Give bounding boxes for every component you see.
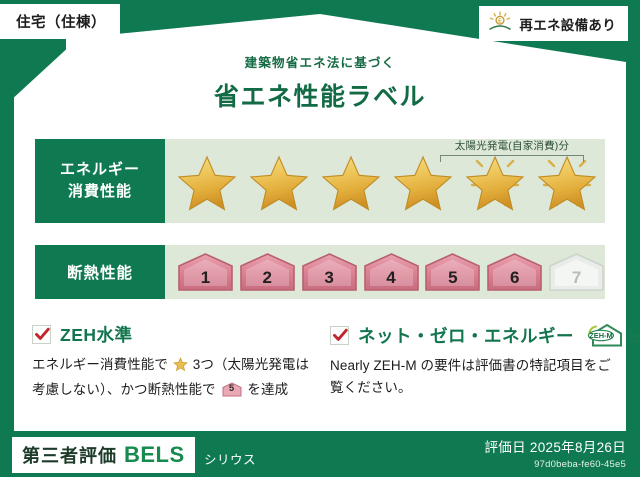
energy-performance-label: 住宅（住棟） E 再エネ設備あり 建築物省エネ法に基づく 省エネ性能ラベル (0, 0, 640, 477)
grade-scale: 1 2 (165, 245, 605, 299)
grade-badge: 5 (424, 252, 481, 292)
energy-performance-label-cell: エネルギー 消費性能 (35, 139, 165, 223)
insulation-grades-area: 1 2 (165, 245, 605, 299)
bels-badge: 第三者評価 BELS (12, 437, 195, 473)
star-icon (245, 149, 313, 213)
zeh-heading: ZEH水準 (32, 322, 317, 347)
third-party-label: 第三者評価 (22, 442, 117, 468)
svg-text:E: E (499, 19, 503, 25)
grade-badge: 7 (548, 252, 605, 292)
inline-grade-badge: 5 (222, 382, 242, 397)
star-icon (173, 149, 241, 213)
nze-heading: ネット・ゼロ・エネルギー ZEH-M Nearly ZEH-M (330, 322, 620, 348)
grade-value: 6 (510, 268, 519, 292)
zeh-m-sub-line1: Nearly (629, 333, 640, 338)
grade-value: 2 (263, 268, 272, 292)
grade-badge: 3 (301, 252, 358, 292)
star-icon (317, 149, 385, 213)
house-type-tag: 住宅（住棟） (0, 4, 120, 39)
footer-bar: 第三者評価 BELS シリウス 評価日 2025年8月26日 97d0beba-… (0, 431, 640, 477)
nze-title: ネット・ゼロ・エネルギー (358, 323, 574, 348)
solar-annotation-bracket (440, 155, 584, 162)
grade-value: 1 (201, 268, 210, 292)
zeh-m-sub-line2: ZEH-M (629, 339, 640, 344)
zeh-text-part1: エネルギー消費性能で (32, 357, 168, 372)
grade-badge: 2 (239, 252, 296, 292)
grade-value: 5 (448, 268, 457, 292)
grade-badge: 4 (363, 252, 420, 292)
star-icon (173, 357, 188, 379)
inline-grade-value: 5 (222, 381, 242, 396)
title-block: 建築物省エネ法に基づく 省エネ性能ラベル (0, 52, 640, 113)
insulation-performance-row: 断熱性能 1 (35, 245, 605, 299)
zeh-standard-section: ZEH水準 エネルギー消費性能で 3つ（太陽光発電は考慮しない）、かつ断熱性能で… (32, 322, 317, 401)
renewable-badge-label: 再エネ設備あり (519, 14, 616, 34)
zeh-checkbox[interactable] (32, 325, 51, 344)
grade-badge: 6 (486, 252, 543, 292)
evaluation-id: 97d0beba-fe60-45e5 (484, 459, 626, 470)
nze-checkbox[interactable] (330, 326, 349, 345)
energy-label-line2: 消費性能 (68, 181, 132, 203)
insulation-performance-label-cell: 断熱性能 (35, 245, 165, 299)
insulation-label: 断熱性能 (67, 261, 133, 283)
solar-contribution-annotation: 太陽光発電(自家消費)分 (432, 138, 592, 162)
bels-label: BELS (124, 442, 185, 468)
renewable-energy-badge: E 再エネ設備あり (479, 6, 628, 41)
zeh-m-logo-sub: Nearly ZEH-M (629, 333, 640, 348)
zeh-m-logo: ZEH-M Nearly ZEH-M (587, 322, 640, 348)
grade-value: 4 (386, 268, 395, 292)
evaluation-info: 評価日 2025年8月26日 97d0beba-fe60-45e5 (484, 436, 626, 470)
page-title: 省エネ性能ラベル (0, 77, 640, 113)
series-label: シリウス (204, 449, 256, 468)
net-zero-energy-section: ネット・ゼロ・エネルギー ZEH-M Nearly ZEH-M Nearly Z… (330, 322, 620, 399)
zeh-title: ZEH水準 (60, 322, 133, 347)
svg-text:ZEH-M: ZEH-M (589, 331, 612, 340)
title-subtitle: 建築物省エネ法に基づく (0, 52, 640, 71)
energy-label-line1: エネルギー (60, 159, 140, 181)
grade-badge: 1 (177, 252, 234, 292)
nze-description: Nearly ZEH-M の要件は評価書の特記項目をご覧ください。 (330, 355, 620, 399)
sun-icon: E (487, 11, 513, 36)
zeh-description: エネルギー消費性能で 3つ（太陽光発電は考慮しない）、かつ断熱性能で 5 を達成 (32, 354, 317, 401)
grade-value: 3 (324, 268, 333, 292)
zeh-text-part3: を達成 (247, 382, 288, 397)
solar-annotation-label: 太陽光発電(自家消費)分 (432, 138, 592, 153)
grade-value: 7 (572, 268, 581, 292)
evaluation-date: 評価日 2025年8月26日 (484, 436, 626, 456)
